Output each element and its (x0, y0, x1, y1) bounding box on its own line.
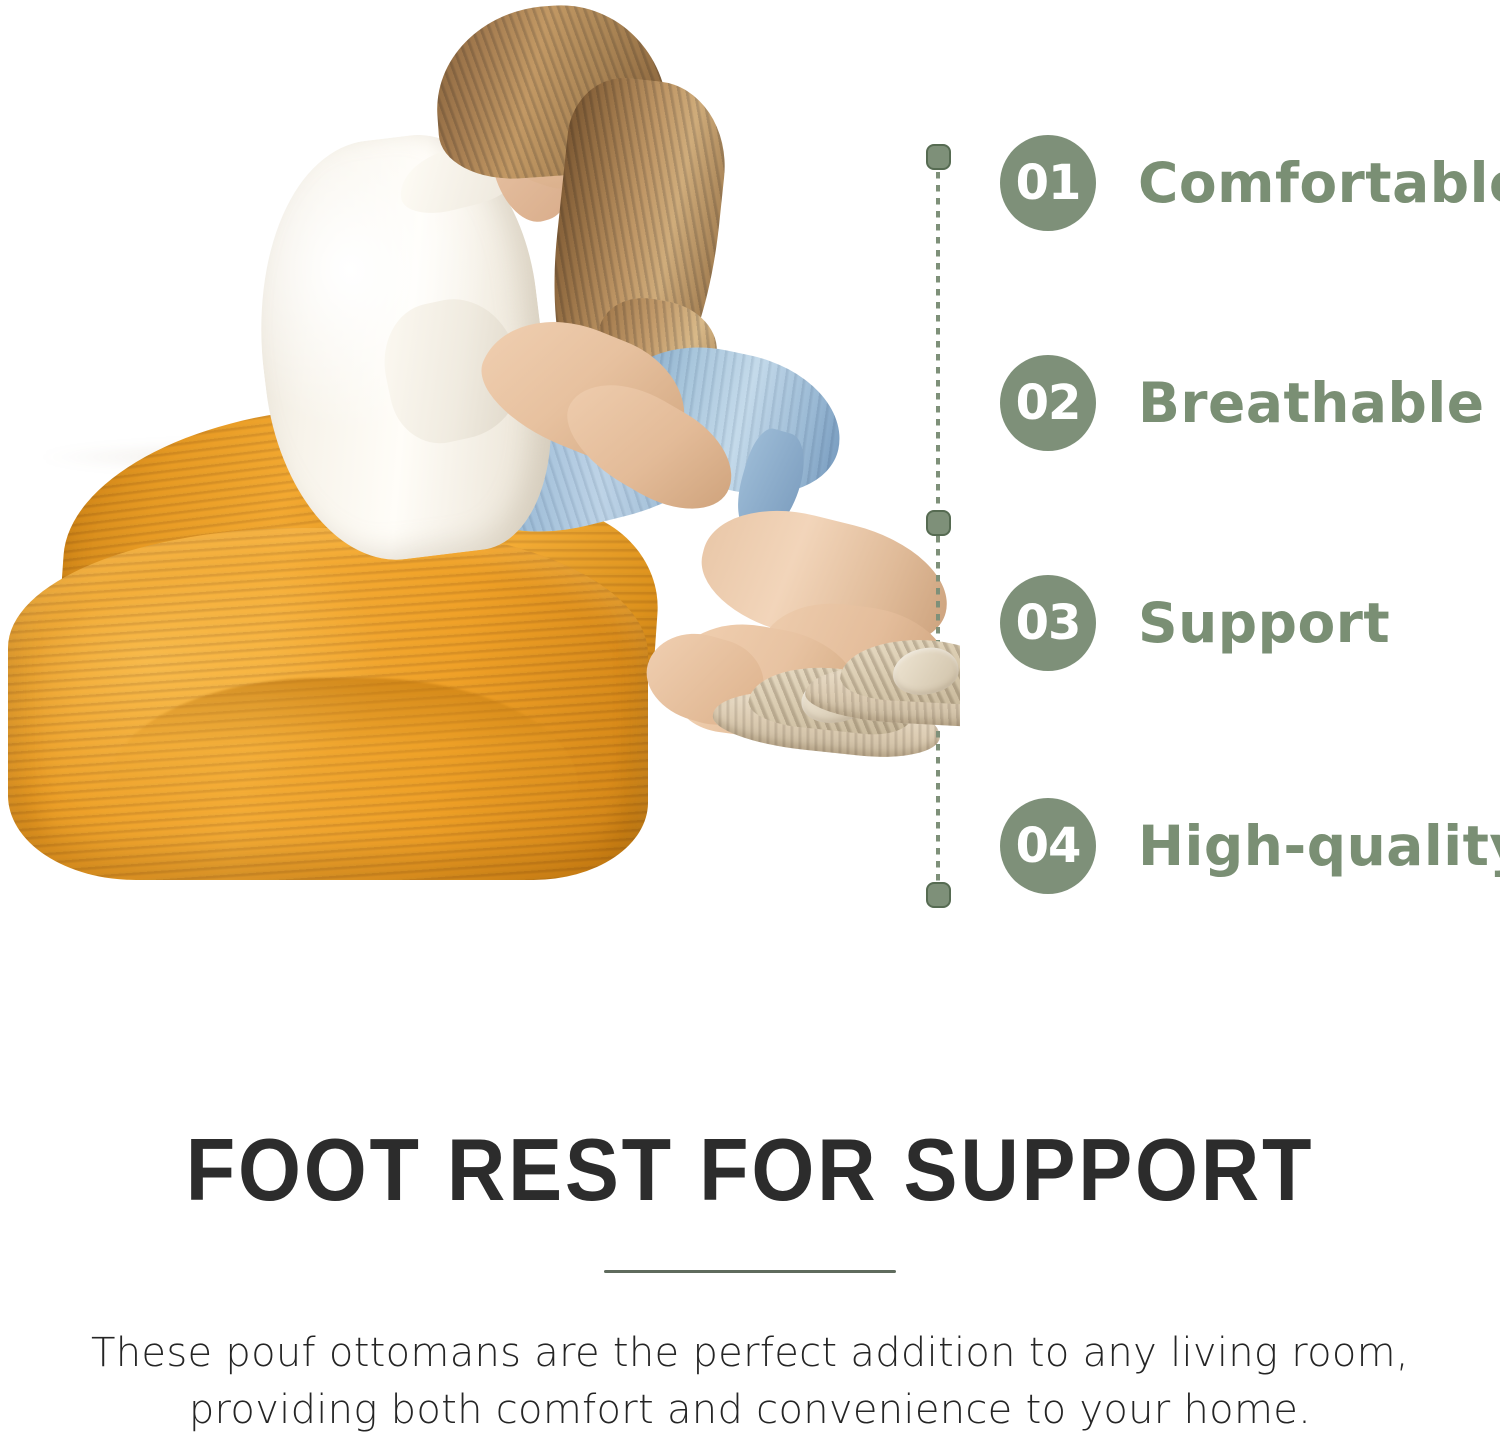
description-text: These pouf ottomans are the perfect addi… (40, 1325, 1460, 1439)
feature-label: Support (1138, 596, 1390, 651)
feature-item-high-quality[interactable]: 04 High-quality (1000, 798, 1500, 894)
slipper-back (804, 634, 960, 732)
feature-number-badge: 01 (1000, 135, 1096, 231)
feature-item-breathable[interactable]: 02 Breathable (1000, 355, 1485, 451)
model-figure (0, 0, 960, 960)
feature-list: 01 Comfortable 02 Breathable 03 Support … (900, 120, 1500, 940)
footer-block: FOOT REST FOR SUPPORT These pouf ottoman… (0, 1100, 1500, 1439)
feature-number-badge: 02 (1000, 355, 1096, 451)
page-title: FOOT REST FOR SUPPORT (60, 1126, 1440, 1214)
feature-label: High-quality (1138, 819, 1500, 874)
timeline-marker-top (926, 144, 951, 170)
timeline-marker-middle (926, 510, 951, 536)
feature-item-support[interactable]: 03 Support (1000, 575, 1390, 671)
feature-number-badge: 03 (1000, 575, 1096, 671)
title-divider (604, 1270, 896, 1273)
feature-label: Comfortable (1138, 156, 1500, 211)
infographic-canvas: 01 Comfortable 02 Breathable 03 Support … (0, 0, 1500, 1426)
feature-item-comfortable[interactable]: 01 Comfortable (1000, 135, 1500, 231)
feature-label: Breathable (1138, 376, 1485, 431)
description-line-1: These pouf ottomans are the perfect addi… (40, 1325, 1460, 1382)
timeline-marker-bottom (926, 882, 951, 908)
feature-number-badge: 04 (1000, 798, 1096, 894)
product-photo (0, 0, 960, 960)
description-line-2: providing both comfort and convenience t… (40, 1382, 1460, 1439)
